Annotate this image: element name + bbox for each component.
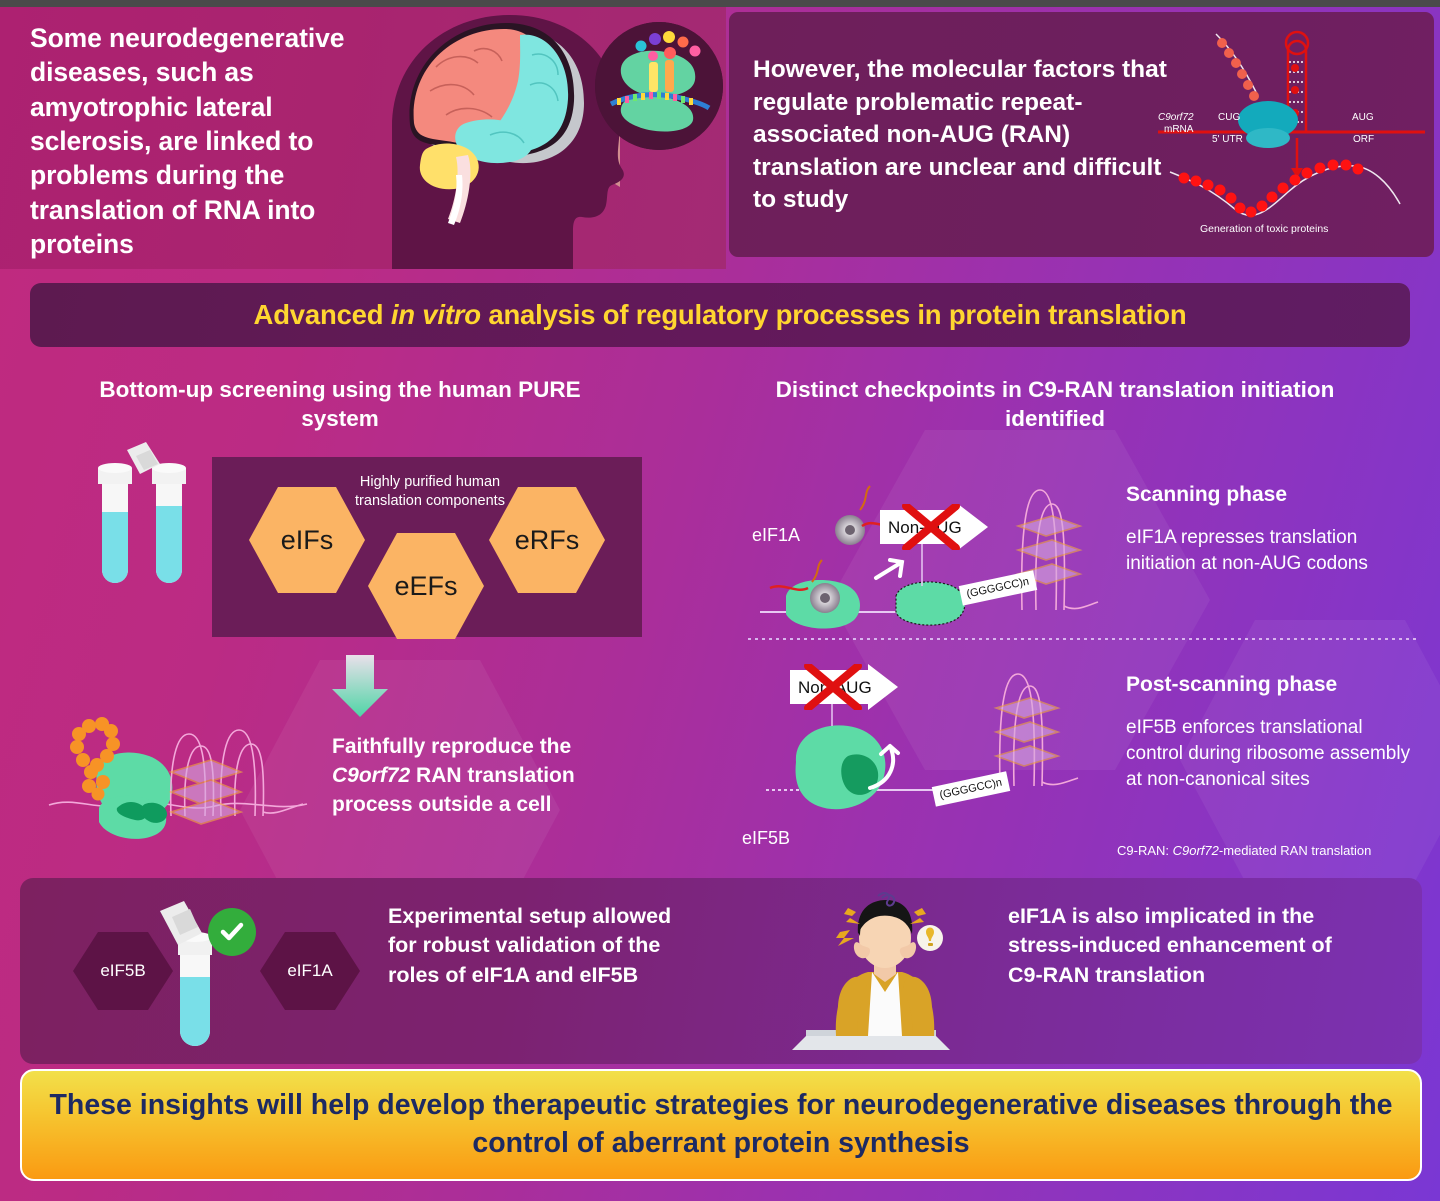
footnote-gene: C9orf72 xyxy=(1173,843,1219,858)
footer-banner: These insights will help develop therape… xyxy=(20,1069,1422,1181)
top-left-text: Some neurodegenerative diseases, such as… xyxy=(30,21,380,261)
scanning-phase-illustration xyxy=(750,470,1110,635)
non-aug-sign-post-scanning: Non-AUG xyxy=(790,664,898,710)
magnified-ribosome-circle xyxy=(595,22,723,150)
left-outcome-text: Faithfully reproduce the C9orf72 RAN tra… xyxy=(332,733,632,820)
infographic-canvas: Some neurodegenerative diseases, such as… xyxy=(0,0,1440,1201)
footnote-prefix: C9-RAN: xyxy=(1117,843,1173,858)
mrna-label: mRNA xyxy=(1164,124,1193,135)
left-outcome-line2: RAN translation xyxy=(410,764,575,787)
phase-divider xyxy=(748,638,1418,640)
factor-label-eif5b: eIF5B xyxy=(742,828,790,849)
left-outcome-gene: C9orf72 xyxy=(332,764,410,787)
phase-title-post-scanning: Post-scanning phase xyxy=(1126,673,1337,697)
bottom-text-right: eIF1A is also implicated in the stress-i… xyxy=(1008,902,1338,990)
utr-label: 5' UTR xyxy=(1212,134,1243,145)
section-banner: Advanced in vitro analysis of regulatory… xyxy=(30,283,1410,347)
right-column-heading: Distinct checkpoints in C9-RAN translati… xyxy=(760,375,1350,433)
top-edge-strip xyxy=(0,0,1440,7)
top-right-text: However, the molecular factors that regu… xyxy=(753,54,1183,217)
banner-title: Advanced in vitro analysis of regulatory… xyxy=(254,299,1187,331)
c9ran-footnote: C9-RAN: C9orf72-mediated RAN translation xyxy=(1117,843,1371,858)
orf-label: ORF xyxy=(1353,134,1374,145)
phase-title-scanning: Scanning phase xyxy=(1126,483,1287,507)
ran-translation-diagram: C9orf72 mRNA CUG 5' UTR AUG ORF Generati… xyxy=(1150,20,1425,245)
mrna-gene-label: C9orf72 xyxy=(1158,112,1194,123)
cug-label: CUG xyxy=(1218,112,1240,123)
banner-title-before: Advanced xyxy=(254,299,391,330)
footnote-suffix: -mediated RAN translation xyxy=(1219,843,1371,858)
footer-text: These insights will help develop therape… xyxy=(22,1087,1420,1162)
ribosome-gquadruplex-illustration-left xyxy=(45,700,335,860)
test-tubes-illustration xyxy=(80,440,210,620)
factor-label-eif1a: eIF1A xyxy=(752,525,800,546)
phase-body-post-scanning: eIF5B enforces translational control dur… xyxy=(1126,715,1416,794)
left-outcome-line1: Faithfully reproduce the xyxy=(332,735,571,758)
check-icon xyxy=(208,908,256,956)
pure-system-caption: Highly purified human translation compon… xyxy=(330,473,530,512)
down-arrow-icon xyxy=(325,655,395,717)
left-outcome-line3: process outside a cell xyxy=(332,793,551,816)
banner-title-after: analysis of regulatory processes in prot… xyxy=(481,299,1187,330)
bottom-text-left: Experimental setup allowed for robust va… xyxy=(388,902,698,990)
left-column-heading: Bottom-up screening using the human PURE… xyxy=(60,375,620,433)
banner-title-italic: in vitro xyxy=(391,299,481,330)
phase-body-scanning: eIF1A represses translation initiation a… xyxy=(1126,525,1416,577)
non-aug-sign-scanning: Non-AUG xyxy=(880,504,988,550)
toxic-protein-caption: Generation of toxic proteins xyxy=(1200,223,1328,235)
stressed-person-illustration xyxy=(790,890,980,1060)
aug-label: AUG xyxy=(1352,112,1374,123)
